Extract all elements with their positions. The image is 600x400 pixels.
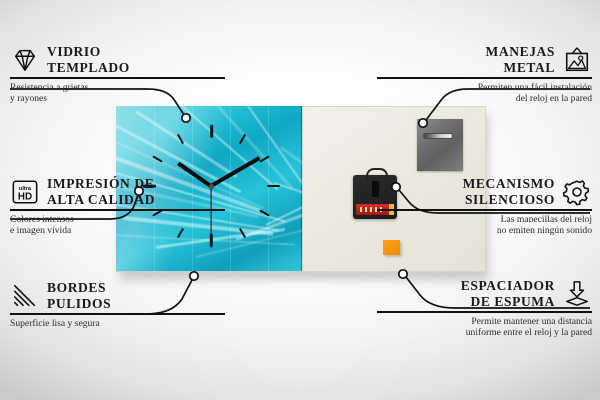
feature-subtitle-1: Colores intensos (10, 214, 225, 225)
metal-hanger-plate (417, 119, 463, 171)
feature-subtitle-2: y rayones (10, 93, 225, 104)
feature-header: VIDRIO TEMPLADO (10, 44, 225, 75)
title-underline (10, 77, 225, 79)
feature-subtitle-1: Permite mantener una distancia (377, 316, 592, 327)
hour-tick (210, 125, 213, 138)
title-underline (377, 311, 592, 313)
down-arrow-pad-icon (562, 280, 592, 308)
ultra-hd-badge-icon: ultra HD (10, 178, 40, 206)
feature-mecanismo-silencioso: MECANISMO SILENCIOSO Las manecillas del … (377, 176, 592, 236)
feature-impresion-alta-calidad: ultra HD IMPRESIÓN DE ALTA CALIDAD Color… (10, 176, 225, 236)
feature-subtitle-1: Resistencia a grietas (10, 82, 225, 93)
title-underline (377, 209, 592, 211)
hanger-slot (423, 133, 453, 139)
hour-tick (267, 185, 280, 188)
feature-vidrio-templado: VIDRIO TEMPLADO Resistencia a grietas y … (10, 44, 225, 104)
feature-bordes-pulidos: BORDES PULIDOS Superficie lisa y segura (10, 280, 225, 329)
diamond-icon (10, 46, 40, 74)
feature-header: MECANISMO SILENCIOSO (377, 176, 592, 207)
feature-subtitle-2: del reloj en la pared (377, 93, 592, 104)
feature-title: BORDES PULIDOS (47, 280, 111, 311)
feature-subtitle-1: Permiten una fácil instalación (377, 82, 592, 93)
feature-header: BORDES PULIDOS (10, 280, 225, 311)
infographic-canvas: VIDRIO TEMPLADO Resistencia a grietas y … (0, 0, 600, 400)
feature-title: IMPRESIÓN DE ALTA CALIDAD (47, 176, 155, 207)
feature-espaciador-espuma: ESPACIADOR DE ESPUMA Permite mantener un… (377, 278, 592, 338)
title-underline (10, 209, 225, 211)
feature-subtitle-2: no emiten ningún sonido (377, 225, 592, 236)
diagonal-lines-icon (10, 282, 40, 310)
feature-header: MANEJAS METAL (377, 44, 592, 75)
gear-icon (562, 178, 592, 206)
feature-title: MANEJAS METAL (486, 44, 555, 75)
feature-subtitle-2: e imagen vívida (10, 225, 225, 236)
glass-band (268, 106, 269, 272)
feature-title: MECANISMO SILENCIOSO (463, 176, 555, 207)
clock-bottom-edge (116, 271, 306, 272)
feature-subtitle-1: Superficie lisa y segura (10, 318, 225, 329)
svg-text:HD: HD (18, 191, 32, 202)
feature-header: ultra HD IMPRESIÓN DE ALTA CALIDAD (10, 176, 225, 207)
feature-header: ESPACIADOR DE ESPUMA (377, 278, 592, 309)
feature-subtitle-2: uniforme entre el reloj y la pared (377, 327, 592, 338)
glass-band (230, 106, 231, 272)
feature-subtitle-1: Las manecillas del reloj (377, 214, 592, 225)
foam-spacer (383, 240, 400, 255)
title-underline (10, 313, 225, 315)
feature-title: VIDRIO TEMPLADO (47, 44, 130, 75)
feature-title: ESPACIADOR DE ESPUMA (461, 278, 555, 309)
title-underline (377, 77, 592, 79)
framed-picture-hanger-icon (562, 46, 592, 74)
feature-manejas-metal: MANEJAS METAL Permiten una fácil instala… (377, 44, 592, 104)
